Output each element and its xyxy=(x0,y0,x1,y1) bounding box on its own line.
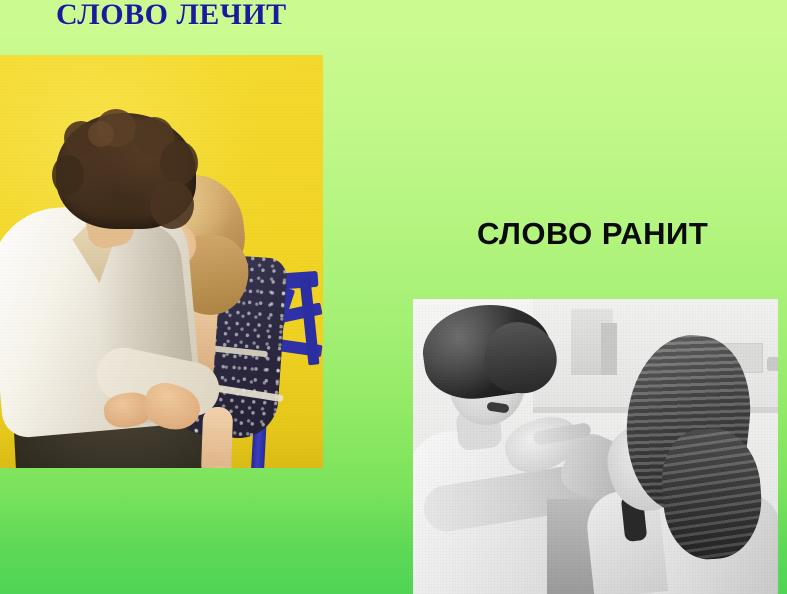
photo-word-heals xyxy=(0,55,323,468)
presentation-slide: СЛОВО ЛЕЧИТ СЛОВО РАНИТ xyxy=(0,0,787,594)
photo-word-hurts xyxy=(413,299,778,594)
title-word-hurts: СЛОВО РАНИТ xyxy=(477,216,708,252)
title-word-heals: СЛОВО ЛЕЧИТ xyxy=(56,0,287,32)
photo-grain-overlay xyxy=(0,55,323,468)
photo-grain-overlay xyxy=(413,299,778,594)
